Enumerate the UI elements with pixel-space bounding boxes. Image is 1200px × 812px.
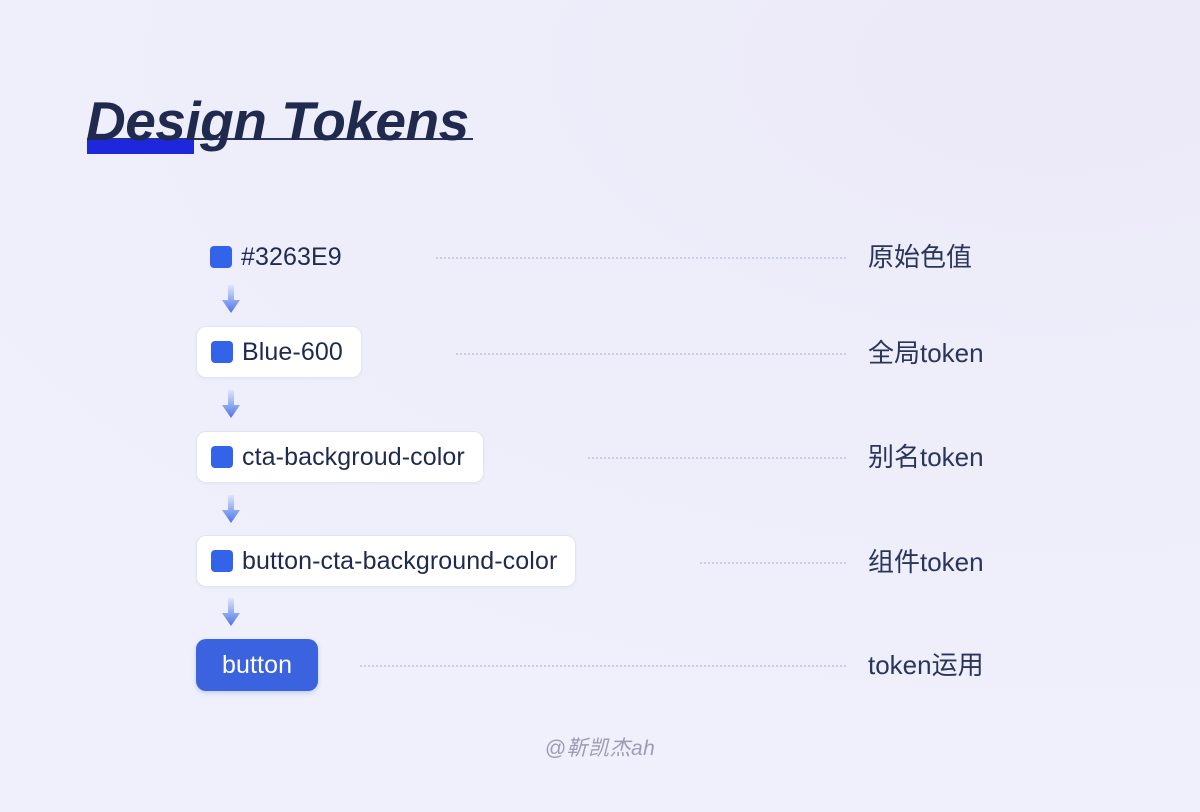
arrow-down-icon — [218, 285, 244, 315]
arrow-down-icon — [218, 390, 244, 420]
arrow-down-icon — [218, 598, 244, 628]
stage-label-raw-value: 原始色值 — [868, 241, 972, 273]
connector-line-3 — [588, 457, 846, 461]
watermark: @靳凯杰ah — [0, 732, 1200, 762]
token-node-label: #3263E9 — [241, 242, 342, 272]
color-swatch-icon — [211, 550, 233, 572]
token-row-component-token[interactable]: button-cta-background-color — [196, 535, 576, 587]
token-node-label: cta-backgroud-color — [242, 442, 465, 472]
token-node-global-token[interactable]: Blue-600 — [196, 326, 362, 378]
connector-line-5 — [360, 665, 846, 669]
token-row-raw-value[interactable]: #3263E9 — [196, 231, 360, 283]
token-node-label: button-cta-background-color — [242, 546, 557, 576]
stage-label-alias-token: 别名token — [868, 441, 984, 473]
button-preview[interactable]: button — [196, 639, 318, 691]
token-node-component-token[interactable]: button-cta-background-color — [196, 535, 576, 587]
token-node-raw-value[interactable]: #3263E9 — [196, 231, 360, 283]
token-row-global-token[interactable]: Blue-600 — [196, 326, 362, 378]
connector-line-4 — [700, 562, 846, 566]
stage-label-global-token: 全局token — [868, 337, 984, 369]
token-row-alias-token[interactable]: cta-backgroud-color — [196, 431, 484, 483]
token-node-label: Blue-600 — [242, 337, 343, 367]
color-swatch-icon — [211, 341, 233, 363]
page-title-text: Design Tokens — [86, 88, 469, 154]
stage-label-token-usage: token运用 — [868, 649, 984, 681]
arrow-down-icon — [218, 495, 244, 525]
slide-canvas: Design Tokens — [0, 0, 1200, 812]
token-row-token-usage[interactable]: button — [196, 639, 318, 691]
color-swatch-icon — [211, 446, 233, 468]
color-swatch-icon — [210, 246, 232, 268]
button-preview-label: button — [222, 650, 292, 680]
page-title: Design Tokens — [86, 88, 606, 160]
token-node-alias-token[interactable]: cta-backgroud-color — [196, 431, 484, 483]
connector-line-2 — [456, 353, 846, 357]
connector-line-1 — [436, 257, 846, 261]
stage-label-component-token: 组件token — [868, 546, 984, 578]
